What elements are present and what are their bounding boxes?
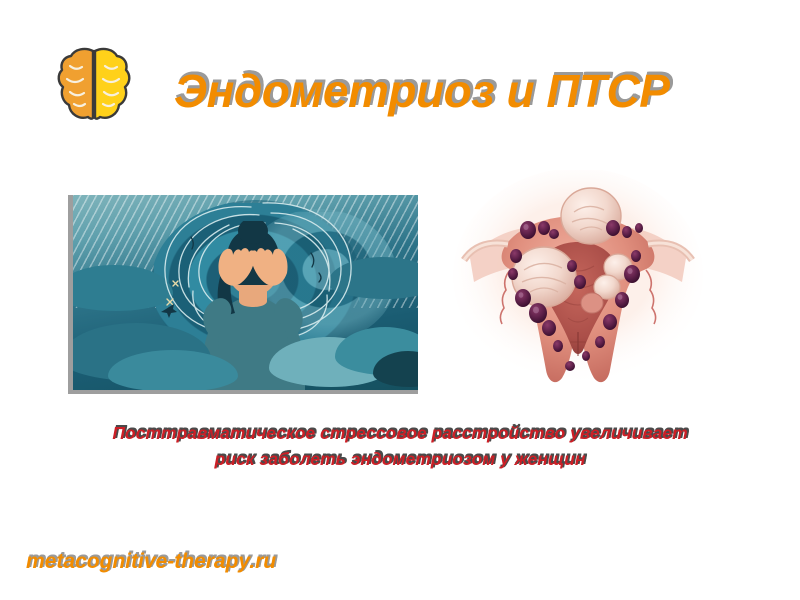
endometriosis-uterus-illustration bbox=[450, 170, 705, 398]
page-title: Эндометриоз и ПТСР bbox=[174, 64, 669, 118]
caption-text: Посттравматическое стрессовое расстройст… bbox=[60, 420, 740, 472]
cyst bbox=[581, 293, 603, 313]
site-url-watermark[interactable]: metacognitive-therapy.ru bbox=[26, 550, 276, 574]
caption-line-2: риск заболеть эндометриозом у женщин bbox=[60, 446, 740, 472]
slide-header: Эндометриоз и ПТСР bbox=[0, 0, 800, 150]
slide-canvas: Эндометриоз и ПТСР bbox=[0, 0, 800, 600]
caption-line-1: Посттравматическое стрессовое расстройст… bbox=[60, 420, 740, 446]
illustrations-row bbox=[0, 170, 800, 400]
brain-icon bbox=[57, 46, 131, 122]
ptsd-anxiety-illustration bbox=[68, 195, 418, 394]
